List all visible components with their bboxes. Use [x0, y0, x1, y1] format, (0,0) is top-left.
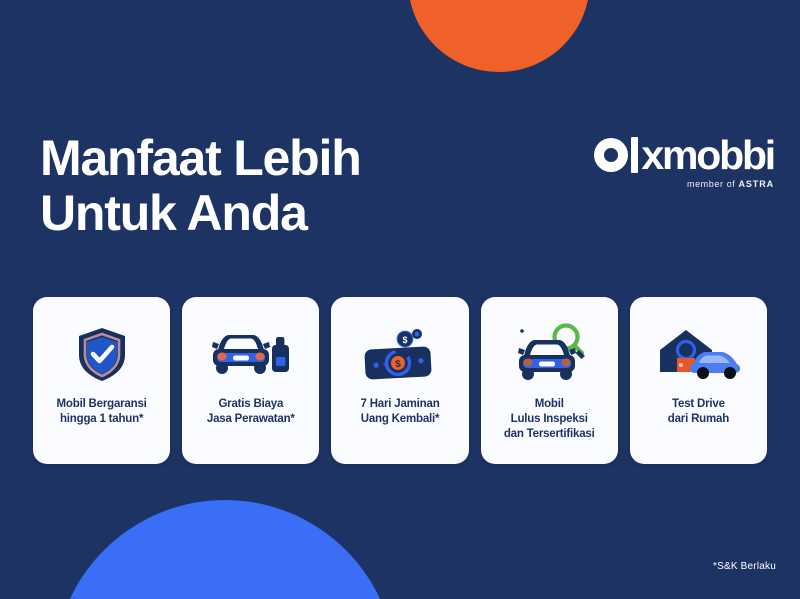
- benefit-card-inspected[interactable]: Mobil Lulus Inspeksi dan Tersertifikasi: [481, 297, 618, 464]
- car-magnifier-icon: [510, 323, 588, 385]
- shield-check-icon: [74, 323, 130, 385]
- orange-circle-decoration: [408, 0, 590, 72]
- logo-tagline-brand: ASTRA: [739, 179, 775, 189]
- blue-circle-decoration: [54, 500, 396, 599]
- benefit-card-free-service[interactable]: Gratis Biaya Jasa Perawatan*: [182, 297, 319, 464]
- benefit-card-list: Mobil Bergaransi hingga 1 tahun*: [33, 297, 767, 464]
- olx-bar-icon: [631, 137, 638, 173]
- benefit-card-money-back[interactable]: $ $ 7 Hari Jaminan Uang Kembali*: [331, 297, 468, 464]
- logo-tagline: member of ASTRA: [594, 179, 774, 189]
- logo-wordmark: xmobbi: [641, 134, 774, 176]
- brand-logo: xmobbi member of ASTRA: [594, 134, 774, 189]
- page-title: Manfaat Lebih Untuk Anda: [40, 131, 361, 241]
- house-car-icon: [652, 323, 744, 385]
- svg-text:$: $: [402, 335, 407, 345]
- olx-o-icon: [594, 138, 628, 172]
- car-oil-bottle-icon: [208, 323, 294, 385]
- benefit-card-label: Test Drive dari Rumah: [662, 397, 735, 427]
- benefit-card-label: 7 Hari Jaminan Uang Kembali*: [355, 397, 446, 427]
- terms-footnote: *S&K Berlaku: [713, 561, 776, 572]
- svg-text:$: $: [395, 359, 402, 370]
- money-back-icon: $ $: [359, 323, 441, 385]
- promo-poster: Manfaat Lebih Untuk Anda xmobbi member o…: [0, 0, 800, 599]
- benefit-card-label: Mobil Lulus Inspeksi dan Tersertifikasi: [498, 397, 601, 442]
- benefit-card-test-drive[interactable]: Test Drive dari Rumah: [630, 297, 767, 464]
- benefit-card-label: Mobil Bergaransi hingga 1 tahun*: [51, 397, 153, 427]
- benefit-card-warranty[interactable]: Mobil Bergaransi hingga 1 tahun*: [33, 297, 170, 464]
- logo-tagline-prefix: member of: [687, 179, 739, 189]
- logo-wordmark-row: xmobbi: [594, 134, 774, 176]
- benefit-card-label: Gratis Biaya Jasa Perawatan*: [201, 397, 301, 427]
